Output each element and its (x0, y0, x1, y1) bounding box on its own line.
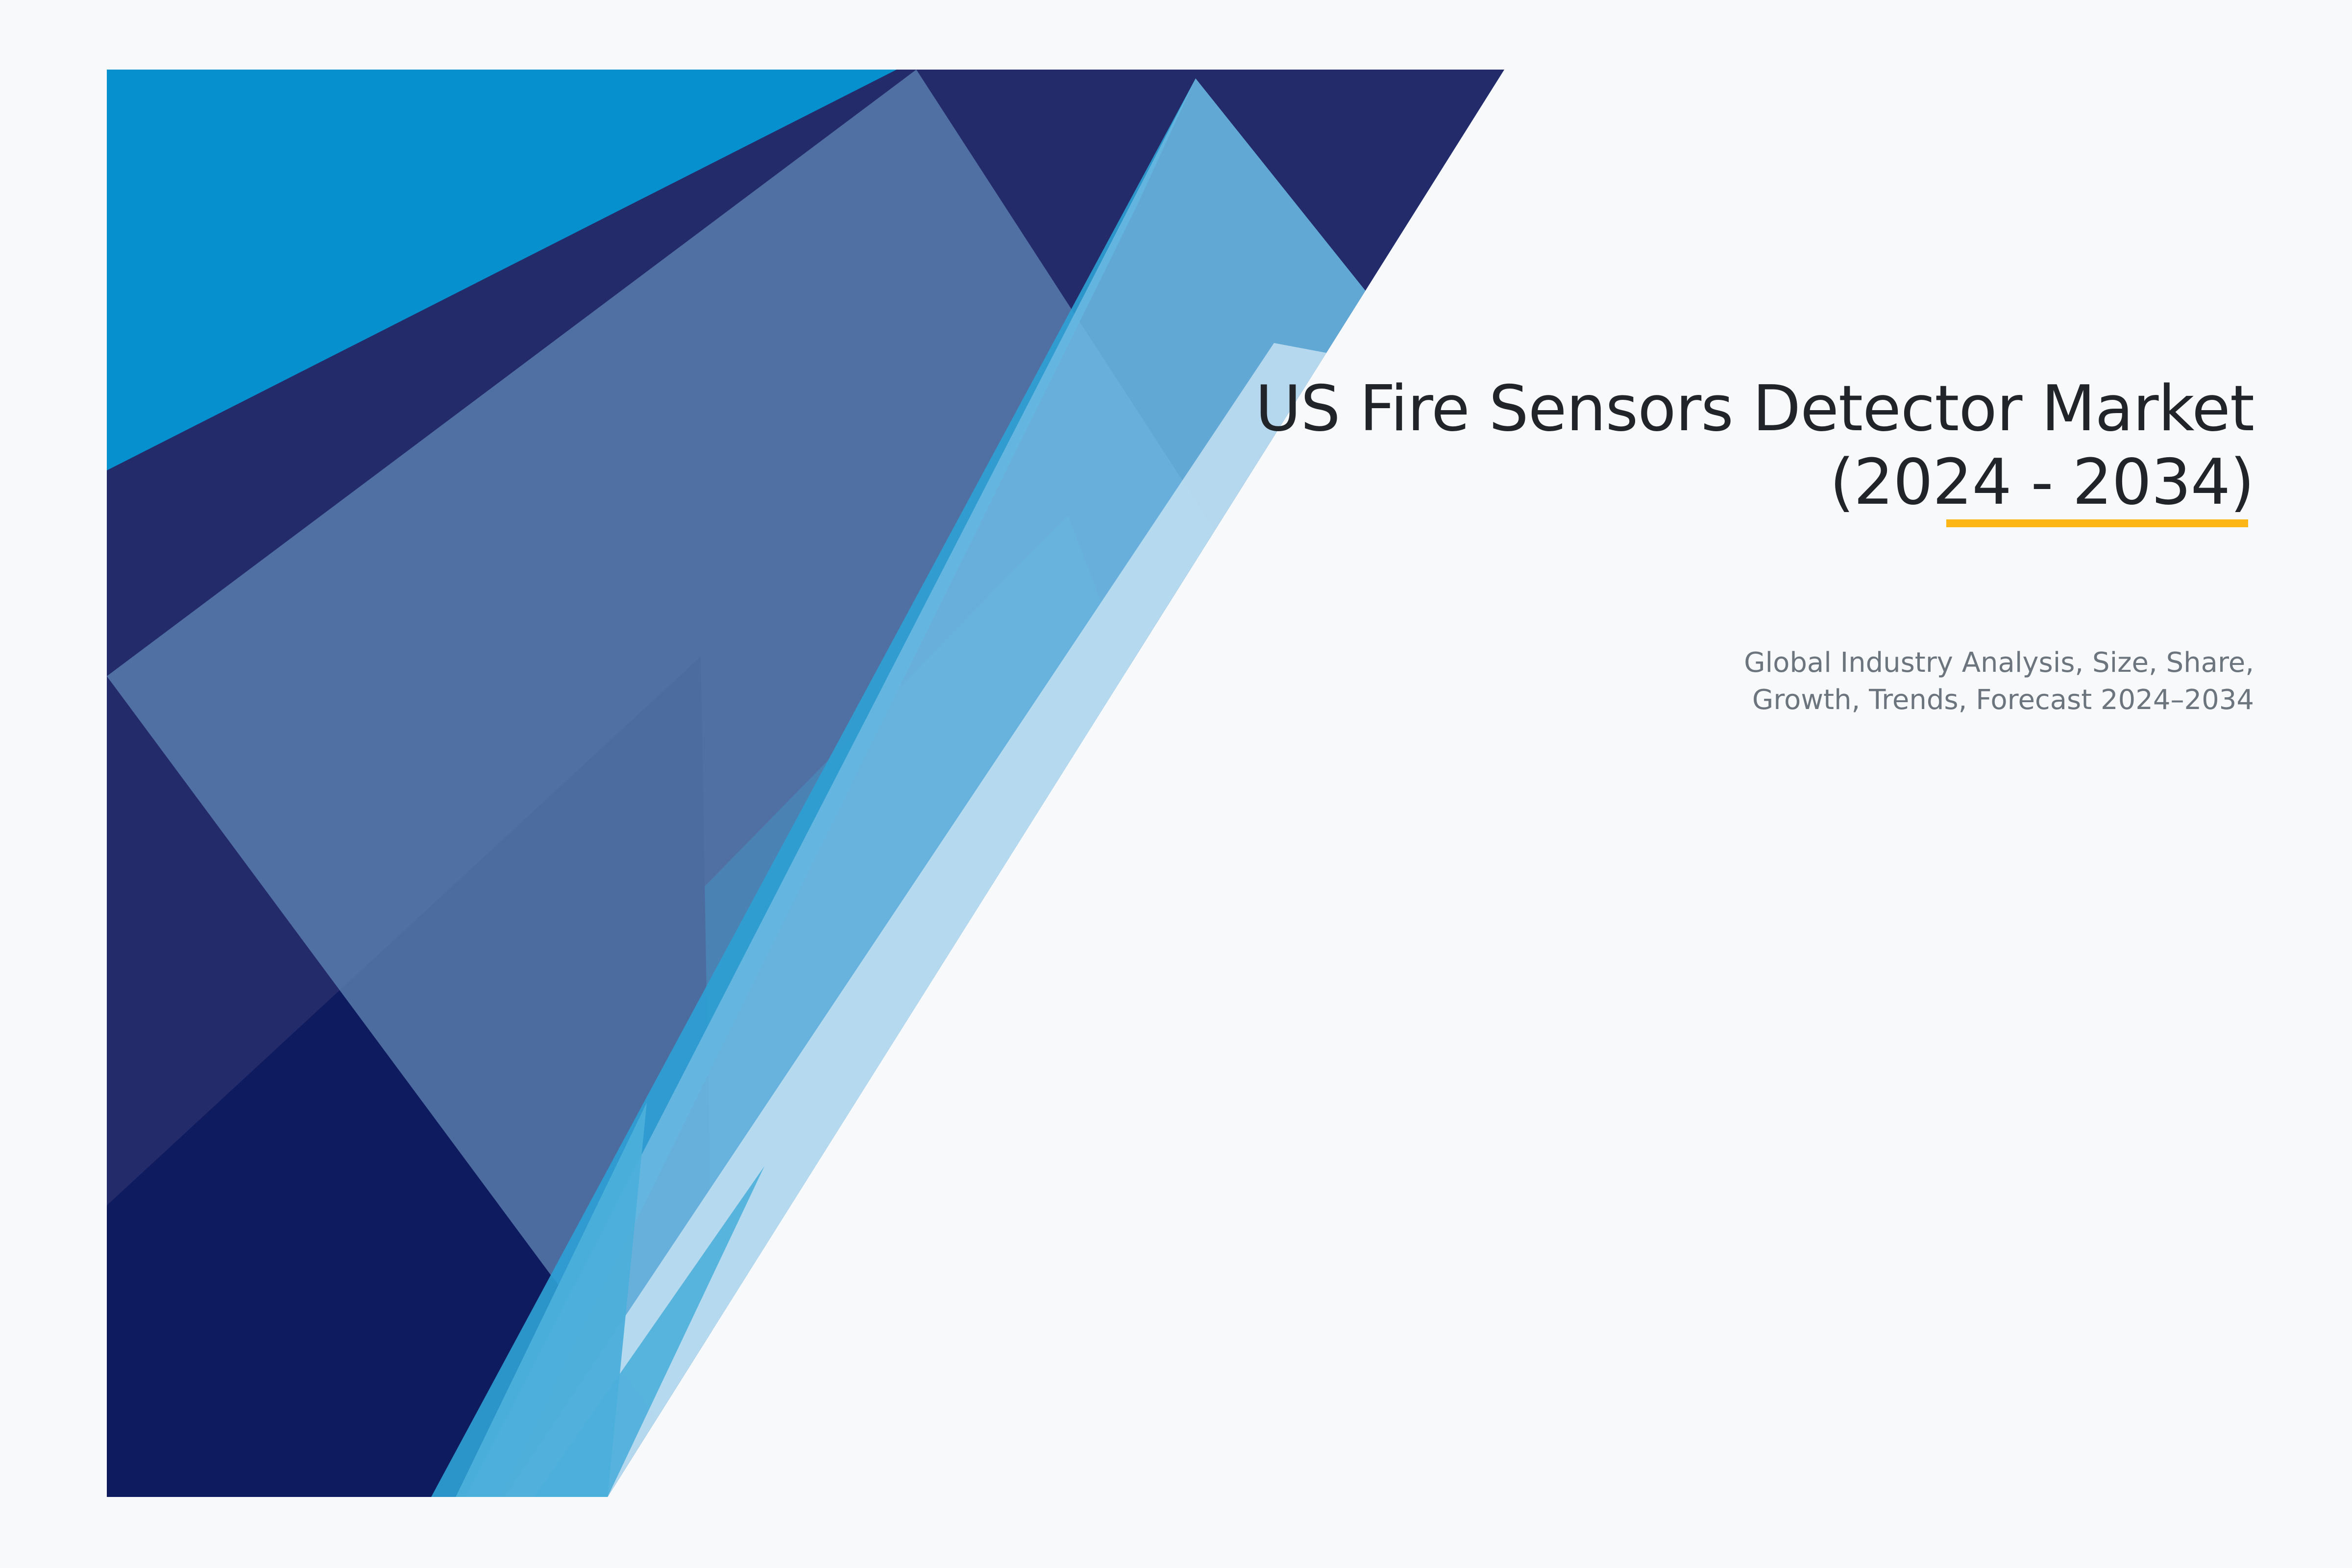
title-accent-rule (1946, 519, 2248, 527)
cover-page: US Fire Sensors Detector Market (2024 - … (0, 0, 2352, 1568)
mid-blue-bottom-right-wedge (534, 1166, 764, 1497)
page-title: US Fire Sensors Detector Market (2024 - … (833, 372, 2254, 519)
deep-navy-lower-spire (274, 657, 701, 1497)
abstract-geometric-cover-graphic (0, 0, 2352, 1568)
navy-upper-right-wedge (107, 70, 1504, 1497)
slate-blue-large-diamond (107, 70, 1284, 1497)
sky-blue-wide-beam (465, 78, 1431, 1497)
page-subtitle: Global Industry Analysis, Size, Share, G… (1372, 644, 2254, 719)
deep-navy-bottom-mass (107, 657, 715, 1497)
mid-blue-bottom-wedge (456, 1102, 647, 1497)
cyan-top-left-panel (107, 70, 1504, 1497)
navy-corner-triangle (897, 70, 1504, 1078)
title-block: US Fire Sensors Detector Market (2024 - … (833, 372, 2254, 519)
sky-blue-diagonal-beam (431, 78, 1196, 1497)
